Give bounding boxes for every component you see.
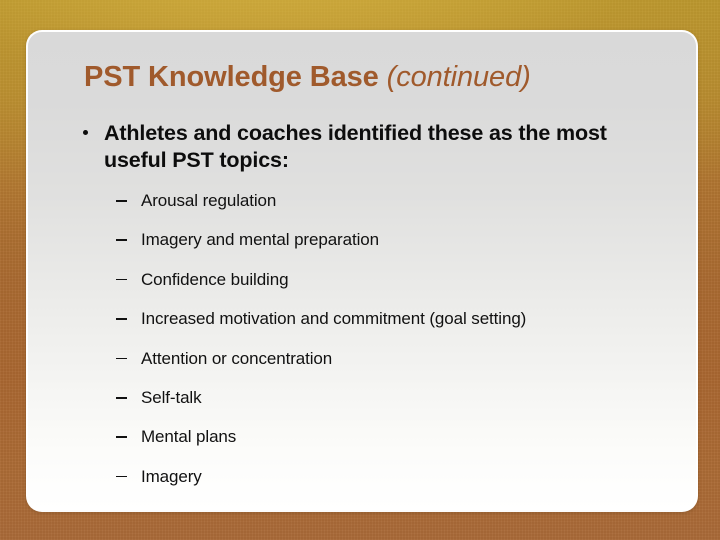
list-item-label: Imagery and mental preparation: [141, 230, 379, 249]
list-item-label: Arousal regulation: [141, 191, 276, 210]
en-dash-icon: [116, 318, 127, 320]
en-dash-icon: [116, 239, 127, 241]
list-item: Self-talk: [28, 387, 696, 426]
list-item: Attention or concentration: [28, 348, 696, 387]
en-dash-icon: [116, 200, 127, 202]
list-item-label: Self-talk: [141, 388, 202, 407]
list-item-label: Increased motivation and commitment (goa…: [141, 309, 526, 328]
list-item: Imagery and mental preparation: [28, 229, 696, 268]
slide-body: Athletes and coaches identified these as…: [28, 120, 696, 505]
list-item-label: Mental plans: [141, 427, 236, 446]
page-title-main: PST Knowledge Base: [84, 61, 387, 93]
main-bullet-label: Athletes and coaches identified these as…: [104, 121, 607, 172]
en-dash-icon: [116, 476, 127, 478]
presentation-slide: PST Knowledge Base (continued) Athletes …: [0, 0, 720, 540]
list-item-label: Confidence building: [141, 270, 288, 289]
en-dash-icon: [116, 358, 127, 360]
dot-bullet-icon: [83, 130, 88, 135]
list-item: Imagery: [28, 466, 696, 505]
list-item-label: Attention or concentration: [141, 349, 332, 368]
en-dash-icon: [116, 436, 127, 438]
sub-bullet-list: Arousal regulation Imagery and mental pr…: [28, 190, 696, 505]
en-dash-icon: [116, 397, 127, 399]
list-item: Confidence building: [28, 269, 696, 308]
list-item: Arousal regulation: [28, 190, 696, 229]
slide-content-panel: PST Knowledge Base (continued) Athletes …: [26, 30, 698, 512]
list-item: Mental plans: [28, 426, 696, 465]
page-title: PST Knowledge Base (continued): [84, 60, 676, 94]
page-title-suffix: (continued): [387, 61, 531, 93]
list-item: Increased motivation and commitment (goa…: [28, 308, 696, 347]
list-item-label: Imagery: [141, 467, 202, 486]
main-bullet-item: Athletes and coaches identified these as…: [57, 120, 666, 174]
en-dash-icon: [116, 279, 127, 281]
